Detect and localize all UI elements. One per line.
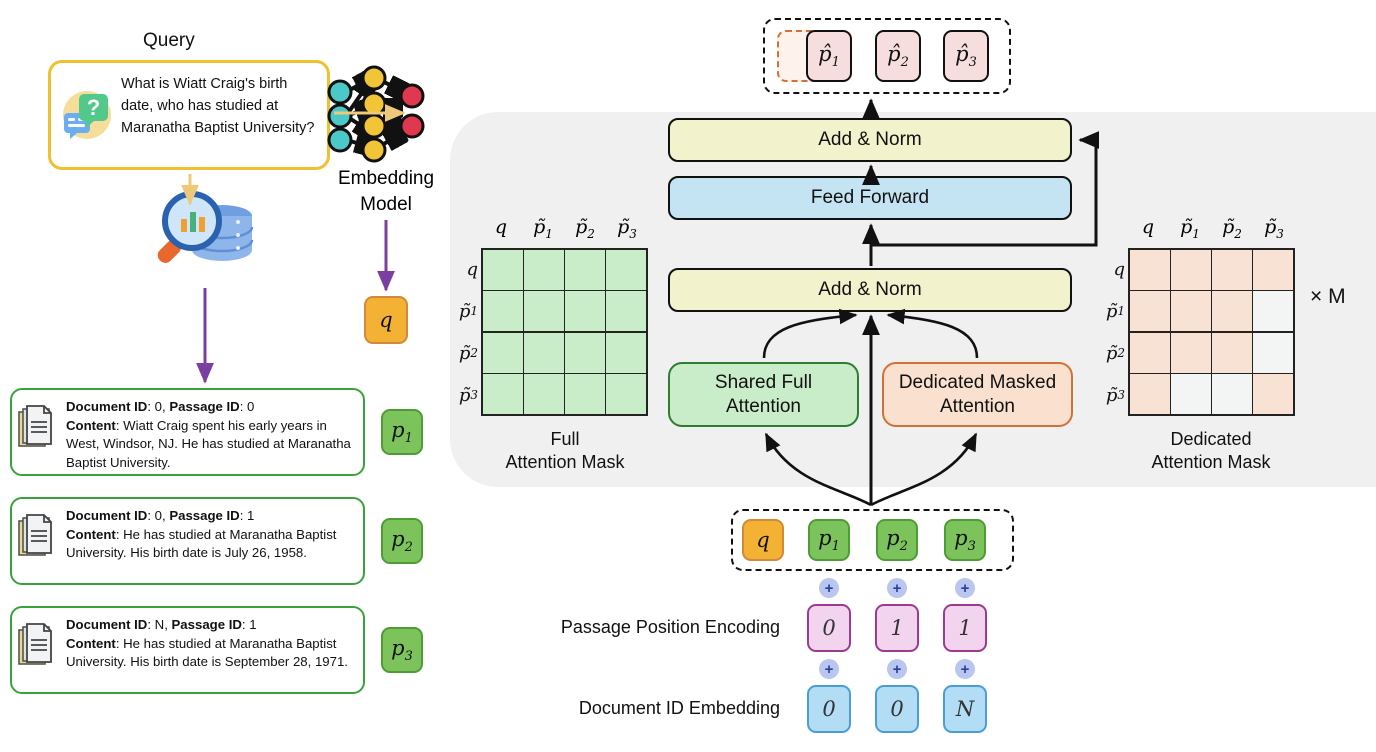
query-text: What is Wiatt Craig's birth date, who ha… [121, 74, 323, 139]
dedicated-mask-caption: Dedicated Attention Mask [1106, 428, 1316, 475]
doc-id-value-2: 0 [155, 508, 162, 523]
mask-cell-2-2 [1212, 333, 1252, 373]
mask-cell-3-3 [1253, 374, 1293, 414]
input-chip-p1: p1 [808, 519, 850, 561]
input-chip-p3: p3 [944, 519, 986, 561]
full-mask-row-header-3: p̃3 [440, 374, 478, 416]
full-mask-col-headers: q p̃1 p̃2 p̃3 [480, 216, 648, 242]
embedding-model-label-line2: Model [330, 194, 442, 216]
full-mask-col-header-2: p̃2 [564, 216, 606, 242]
query-label: Query [143, 30, 195, 52]
dedicated-mask-row-header-0: q [1087, 248, 1125, 290]
passage-position-encoding-label: Passage Position Encoding [540, 617, 780, 638]
chat-question-icon: ? [59, 85, 115, 143]
dedicated-mask-row-header-2: p̃2 [1087, 332, 1125, 374]
full-mask-col-header-1: p̃1 [522, 216, 564, 242]
passage-position-chip-2: 1 [875, 604, 919, 652]
query-card: ? What is Wiatt Craig's birth date, who … [48, 60, 330, 170]
mask-cell-2-2 [565, 333, 605, 373]
passage-chip-3: p3 [381, 627, 423, 673]
output-chip-p1-hat: p̂1 [806, 30, 852, 82]
plus-icon-doc-2: + [887, 659, 907, 679]
dedicated-mask-col-header-1: p̃1 [1169, 216, 1211, 242]
full-mask-row-header-0: q [440, 248, 478, 290]
mask-cell-2-1 [1171, 333, 1211, 373]
passage-id-label-3: Passage ID [172, 617, 242, 632]
mask-cell-3-1 [524, 374, 564, 414]
doc-id-value-3: N [155, 617, 165, 632]
mask-cell-0-3 [1253, 250, 1293, 290]
dedicated-attention-line1: Dedicated Masked [899, 371, 1056, 394]
dedicated-mask-row-header-3: p̃3 [1087, 374, 1125, 416]
dedicated-mask-col-header-2: p̃2 [1211, 216, 1253, 242]
dedicated-attention-mask-grid [1128, 248, 1295, 416]
mask-cell-3-2 [1212, 374, 1252, 414]
mask-cell-1-1 [1171, 291, 1211, 331]
content-label-1: Content [66, 418, 116, 433]
document-card-1: Document ID: 0, Passage ID: 0 Content: W… [10, 388, 365, 476]
passage-id-label-2: Passage ID [169, 508, 239, 523]
plus-icon-doc-1: + [819, 659, 839, 679]
input-chip-p3-label: p3 [954, 526, 976, 554]
mask-cell-1-2 [1212, 291, 1252, 331]
add-norm-top-block: Add & Norm [668, 118, 1072, 162]
passage-chip-2: p2 [381, 518, 423, 564]
add-norm-bottom-block: Add & Norm [668, 268, 1072, 312]
mask-cell-0-1 [524, 250, 564, 290]
mask-cell-2-0 [483, 333, 523, 373]
input-chip-q: q [742, 519, 784, 561]
mask-cell-0-1 [1171, 250, 1211, 290]
passage-chip-2-label: p2 [391, 527, 413, 555]
passage-chip-1: p1 [381, 409, 423, 455]
full-mask-col-header-3: p̃3 [606, 216, 648, 242]
document-stack-icon [18, 405, 58, 453]
diagram-canvas: Query ? What is Wiatt Craig's birth date… [0, 0, 1376, 752]
dedicated-mask-col-header-0: q [1127, 216, 1169, 242]
shared-attention-line1: Shared Full [715, 371, 812, 394]
document-id-chip-2: 0 [875, 685, 919, 733]
passage-position-chip-3: 1 [943, 604, 987, 652]
full-mask-row-header-2: p̃2 [440, 332, 478, 374]
mask-cell-3-0 [1130, 374, 1170, 414]
doc-id-label-2: Document ID [66, 508, 147, 523]
query-embedding-chip: q [364, 296, 408, 344]
full-mask-row-headers: q p̃1 p̃2 p̃3 [440, 248, 478, 416]
document-stack-icon [18, 623, 58, 671]
input-chip-p2: p2 [876, 519, 918, 561]
full-attention-mask-grid [481, 248, 648, 416]
dedicated-mask-caption-line2: Attention Mask [1106, 451, 1316, 474]
document-card-2: Document ID: 0, Passage ID: 1 Content: H… [10, 497, 365, 585]
mask-cell-1-3 [606, 291, 646, 331]
shared-full-attention-block: Shared Full Attention [668, 362, 859, 427]
content-label-3: Content [66, 636, 116, 651]
mask-cell-1-2 [565, 291, 605, 331]
passage-id-value-2: 1 [247, 508, 254, 523]
full-mask-caption-line1: Full [460, 428, 670, 451]
dedicated-mask-caption-line1: Dedicated [1106, 428, 1316, 451]
plus-icon-pos-1: + [819, 578, 839, 598]
database-search-icon [150, 186, 260, 278]
dedicated-mask-col-header-3: p̃3 [1253, 216, 1295, 242]
output-chip-p1-hat-label: p̂1 [818, 42, 840, 70]
plus-icon-pos-2: + [887, 578, 907, 598]
content-label-2: Content [66, 527, 116, 542]
plus-icon-doc-3: + [955, 659, 975, 679]
output-chip-p3-hat-label: p̂3 [955, 42, 977, 70]
passage-chip-3-label: p3 [391, 636, 413, 664]
dedicated-mask-col-headers: q p̃1 p̃2 p̃3 [1127, 216, 1295, 242]
mask-cell-2-1 [524, 333, 564, 373]
document-stack-icon [18, 514, 58, 562]
neural-network-icon [322, 56, 440, 164]
feed-forward-block: Feed Forward [668, 176, 1072, 220]
mask-cell-0-3 [606, 250, 646, 290]
mask-cell-0-2 [1212, 250, 1252, 290]
shared-attention-line2: Attention [726, 395, 801, 418]
passage-id-value-3: 1 [249, 617, 256, 632]
dedicated-attention-line2: Attention [940, 395, 1015, 418]
document-id-embedding-label: Document ID Embedding [540, 698, 780, 719]
passage-chip-1-label: p1 [391, 418, 413, 446]
passage-id-value-1: 0 [247, 399, 254, 414]
doc-id-label-3: Document ID [66, 617, 147, 632]
mask-cell-3-2 [565, 374, 605, 414]
mask-cell-3-0 [483, 374, 523, 414]
mask-cell-1-0 [483, 291, 523, 331]
svg-text:?: ? [87, 95, 100, 120]
full-mask-caption-line2: Attention Mask [460, 451, 670, 474]
mask-cell-1-1 [524, 291, 564, 331]
full-mask-col-header-0: q [480, 216, 522, 242]
mask-cell-1-3 [1253, 291, 1293, 331]
embedding-model-label-line1: Embedding [330, 168, 442, 190]
mask-cell-3-3 [606, 374, 646, 414]
full-mask-row-header-1: p̃1 [440, 290, 478, 332]
mask-cell-3-1 [1171, 374, 1211, 414]
input-chip-p2-label: p2 [886, 526, 908, 554]
mask-cell-1-0 [1130, 291, 1170, 331]
doc-id-value-1: 0 [155, 399, 162, 414]
mask-cell-2-0 [1130, 333, 1170, 373]
input-chip-p1-label: p1 [818, 526, 840, 554]
full-mask-caption: Full Attention Mask [460, 428, 670, 475]
output-chip-p2-hat: p̂2 [875, 30, 921, 82]
dedicated-mask-row-header-1: p̃1 [1087, 290, 1125, 332]
mask-cell-0-0 [483, 250, 523, 290]
passage-id-label-1: Passage ID [169, 399, 239, 414]
mask-cell-0-0 [1130, 250, 1170, 290]
output-chip-p2-hat-label: p̂2 [887, 42, 909, 70]
passage-position-chip-1: 0 [807, 604, 851, 652]
document-id-chip-3: N [943, 685, 987, 733]
mask-cell-2-3 [1253, 333, 1293, 373]
mask-cell-2-3 [606, 333, 646, 373]
document-card-3: Document ID: N, Passage ID: 1 Content: H… [10, 606, 365, 694]
mask-cell-0-2 [565, 250, 605, 290]
dedicated-masked-attention-block: Dedicated Masked Attention [882, 362, 1073, 427]
dedicated-mask-row-headers: q p̃1 p̃2 p̃3 [1087, 248, 1125, 416]
output-chip-p3-hat: p̂3 [943, 30, 989, 82]
plus-icon-pos-3: + [955, 578, 975, 598]
document-id-chip-1: 0 [807, 685, 851, 733]
doc-id-label-1: Document ID [66, 399, 147, 414]
repeat-m-label: × M [1310, 285, 1346, 309]
